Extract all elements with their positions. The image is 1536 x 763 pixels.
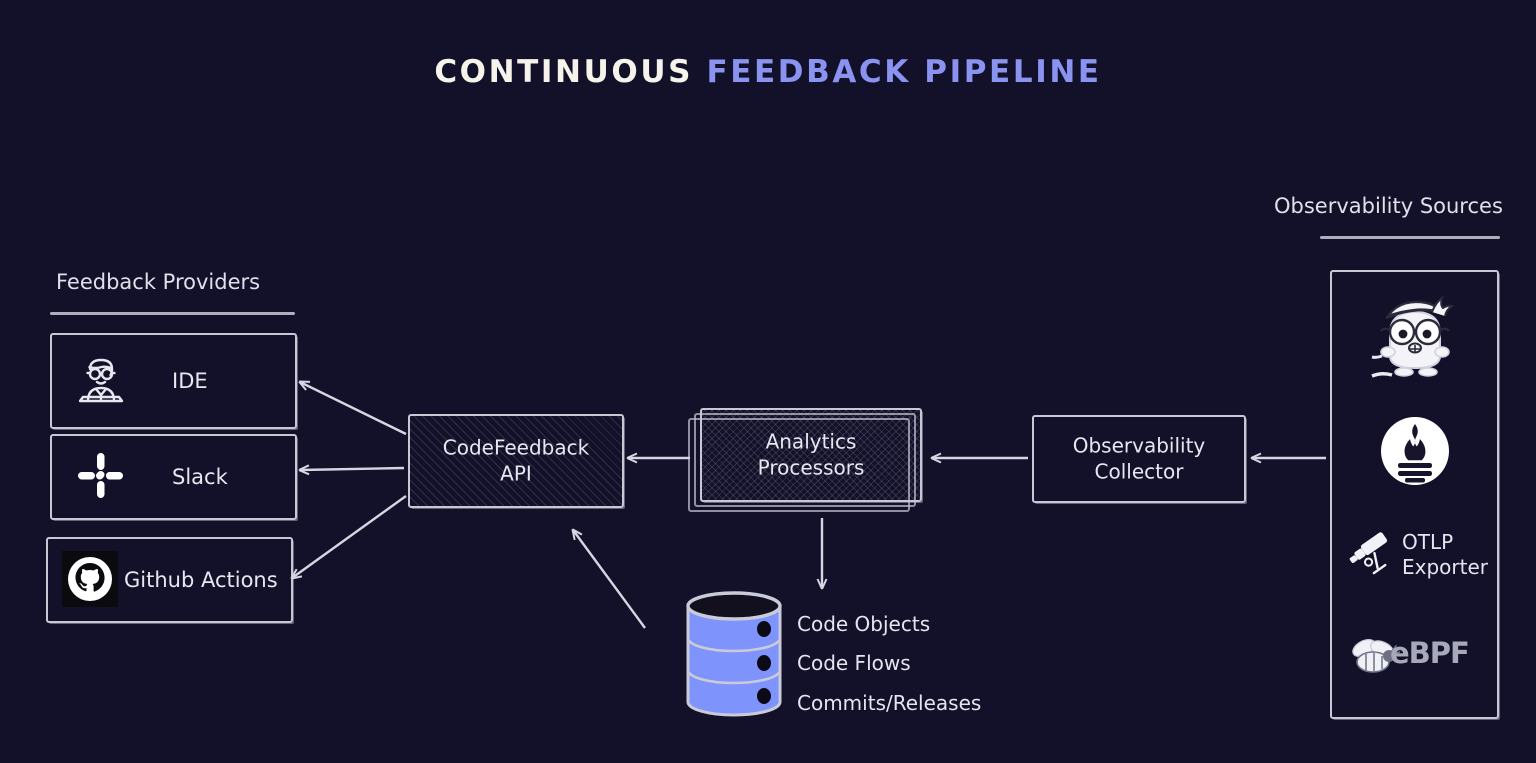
arrow-database-to-api — [573, 530, 645, 628]
diagram-canvas: CONTINUOUS FEEDBACK PIPELINE Feedback Pr… — [0, 0, 1536, 763]
arrow-api-to-ide — [300, 382, 406, 434]
arrow-api-to-github-actions — [292, 496, 406, 578]
arrow-api-to-slack — [300, 468, 404, 470]
arrow-layer — [0, 0, 1536, 763]
